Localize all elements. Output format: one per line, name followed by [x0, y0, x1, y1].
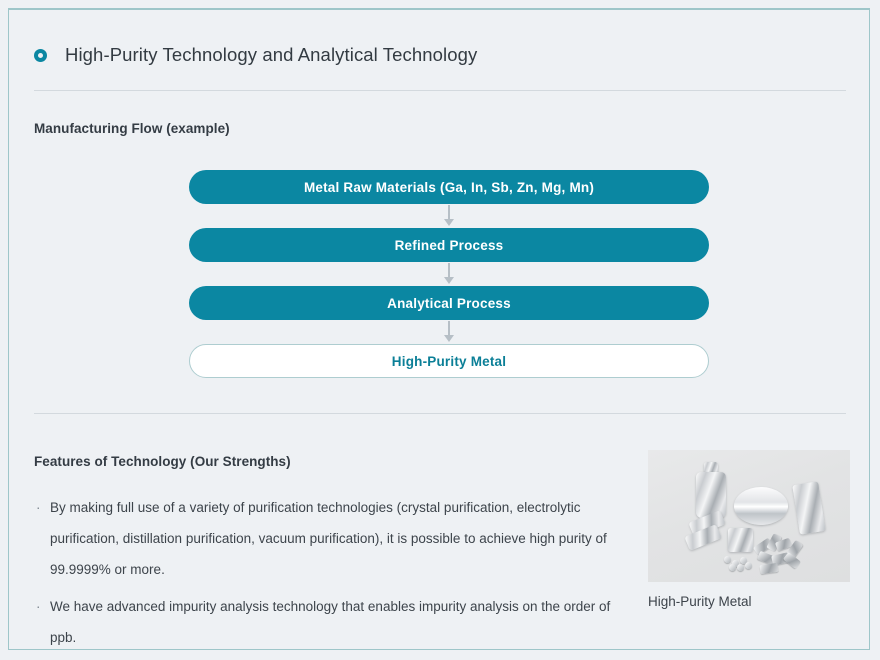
flow-step-1: Metal Raw Materials (Ga, In, Sb, Zn, Mg,… [189, 170, 709, 204]
metal-chunk [783, 552, 801, 569]
manufacturing-flow-diagram: Metal Raw Materials (Ga, In, Sb, Zn, Mg,… [189, 170, 709, 378]
flow-arrow-1 [189, 204, 709, 228]
flow-step-4: High-Purity Metal [189, 344, 709, 378]
figure-caption: High-Purity Metal [648, 594, 850, 609]
flow-step-label: Metal Raw Materials (Ga, In, Sb, Zn, Mg,… [189, 170, 709, 204]
metal-pellet [724, 556, 731, 563]
arrow-head-icon [444, 219, 454, 226]
flow-step-label: Analytical Process [189, 286, 709, 320]
section-title-text: High-Purity Technology and Analytical Te… [65, 44, 477, 66]
figure: High-Purity Metal [648, 450, 850, 609]
metal-bar-right [792, 481, 826, 534]
flow-step-label: Refined Process [189, 228, 709, 262]
metal-pellet [745, 562, 752, 569]
flow-step-label: High-Purity Metal [189, 344, 709, 378]
metal-pellet [729, 564, 736, 571]
flow-arrow-2 [189, 262, 709, 286]
list-item-text: By making full use of a variety of purif… [50, 500, 607, 577]
ring-icon [34, 49, 47, 62]
manufacturing-flow-heading: Manufacturing Flow (example) [34, 121, 230, 136]
bullet-icon: · [36, 492, 41, 523]
features-list: · By making full use of a variety of pur… [34, 492, 634, 653]
high-purity-metal-photo [648, 450, 850, 582]
bullet-icon: · [36, 591, 41, 622]
metal-pellet [737, 564, 744, 571]
metal-disc [734, 487, 788, 525]
divider-top [34, 90, 846, 91]
list-item: · By making full use of a variety of pur… [34, 492, 634, 585]
features-heading: Features of Technology (Our Strengths) [34, 454, 291, 469]
metal-cube [728, 528, 753, 552]
divider-middle [34, 413, 846, 414]
list-item-text: We have advanced impurity analysis techn… [50, 599, 610, 645]
list-item: · We have advanced impurity analysis tec… [34, 591, 634, 653]
arrow-head-icon [444, 335, 454, 342]
flow-arrow-3 [189, 320, 709, 344]
content-panel: High-Purity Technology and Analytical Te… [8, 8, 870, 650]
metal-bottle-body [696, 472, 726, 518]
metal-chunk [759, 563, 778, 574]
flow-step-3: Analytical Process [189, 286, 709, 320]
arrow-head-icon [444, 277, 454, 284]
page-title: High-Purity Technology and Analytical Te… [34, 44, 477, 66]
flow-step-2: Refined Process [189, 228, 709, 262]
